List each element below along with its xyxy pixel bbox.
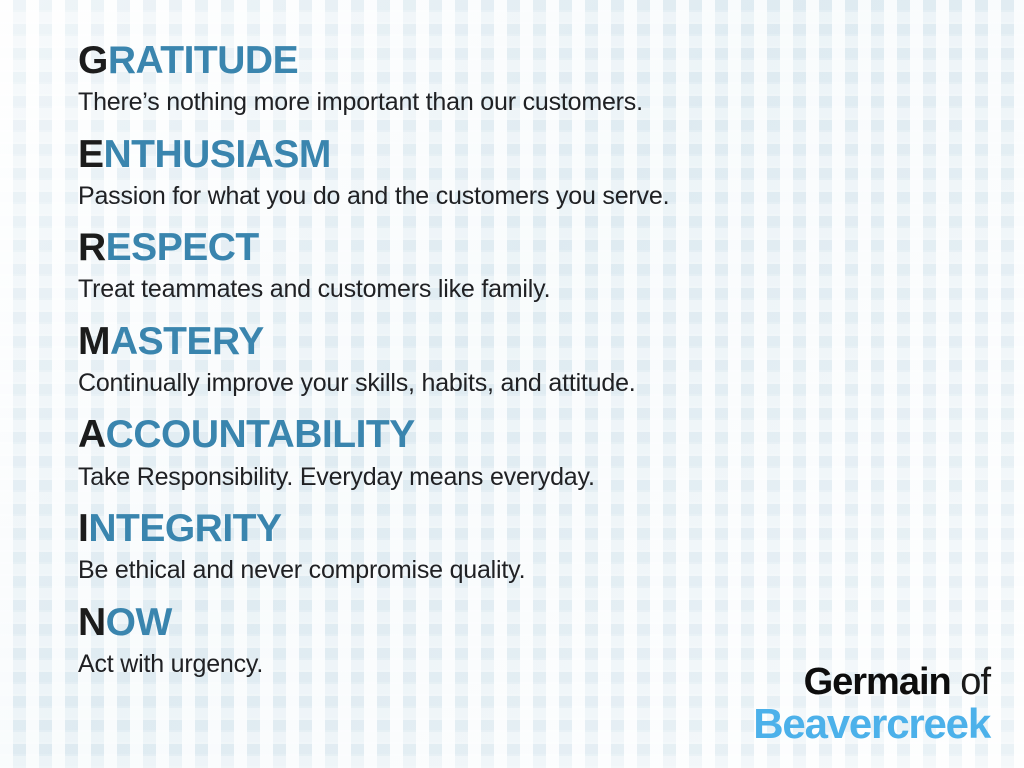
value-remaining-letters: RATITUDE <box>108 39 298 82</box>
value-remaining-letters: CCOUNTABILITY <box>106 413 415 456</box>
value-description-gratitude: There’s nothing more important than our … <box>78 86 1024 120</box>
value-heading-enthusiasm: ENTHUSIASM <box>78 134 1024 176</box>
value-description-integrity: Be ethical and never compromise quality. <box>78 554 1024 588</box>
values-slide: GRATITUDE There’s nothing more important… <box>0 0 1024 768</box>
value-remaining-letters: OW <box>106 601 172 644</box>
value-heading-integrity: INTEGRITY <box>78 508 1024 550</box>
value-block-enthusiasm: ENTHUSIASM Passion for what you do and t… <box>78 134 1024 214</box>
logo-brand-name: Germain <box>804 661 951 703</box>
value-initial-letter: A <box>78 413 106 456</box>
value-remaining-letters: NTEGRITY <box>88 507 281 550</box>
value-heading-respect: RESPECT <box>78 227 1024 269</box>
value-block-integrity: INTEGRITY Be ethical and never compromis… <box>78 508 1024 588</box>
logo-connector-word: of <box>951 661 990 703</box>
dealership-logo: Germain of Beavercreek <box>753 663 990 746</box>
value-block-gratitude: GRATITUDE There’s nothing more important… <box>78 40 1024 120</box>
logo-location-name: Beavercreek <box>753 703 990 746</box>
logo-brand-line: Germain of <box>753 663 990 702</box>
value-block-mastery: MASTERY Continually improve your skills,… <box>78 321 1024 401</box>
value-description-enthusiasm: Passion for what you do and the customer… <box>78 180 1024 214</box>
value-remaining-letters: NTHUSIASM <box>104 133 331 176</box>
value-remaining-letters: ESPECT <box>106 226 259 269</box>
value-description-respect: Treat teammates and customers like famil… <box>78 273 1024 307</box>
value-initial-letter: M <box>78 320 110 363</box>
value-initial-letter: E <box>78 133 104 176</box>
value-heading-gratitude: GRATITUDE <box>78 40 1024 82</box>
value-remaining-letters: ASTERY <box>110 320 264 363</box>
value-description-mastery: Continually improve your skills, habits,… <box>78 367 1024 401</box>
value-heading-accountability: ACCOUNTABILITY <box>78 414 1024 456</box>
value-heading-now: NOW <box>78 602 1024 644</box>
value-initial-letter: N <box>78 601 106 644</box>
value-heading-mastery: MASTERY <box>78 321 1024 363</box>
value-initial-letter: I <box>78 507 88 550</box>
value-block-accountability: ACCOUNTABILITY Take Responsibility. Ever… <box>78 414 1024 494</box>
value-block-respect: RESPECT Treat teammates and customers li… <box>78 227 1024 307</box>
value-initial-letter: R <box>78 226 106 269</box>
value-initial-letter: G <box>78 39 108 82</box>
value-description-accountability: Take Responsibility. Everyday means ever… <box>78 461 1024 495</box>
